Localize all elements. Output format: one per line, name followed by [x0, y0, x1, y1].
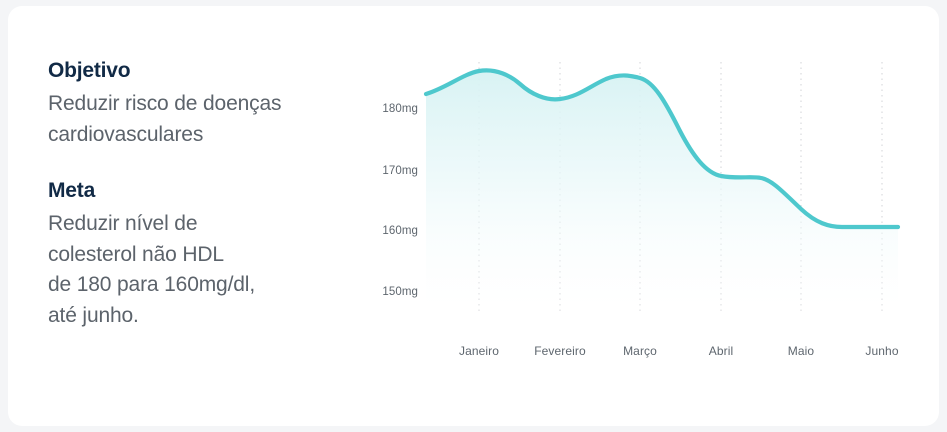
- meta-body: Reduzir nível de colesterol não HDL de 1…: [48, 209, 378, 331]
- chart-area-fill: [426, 70, 898, 311]
- y-tick-180: 180mg: [364, 103, 418, 115]
- x-tick-fevereiro: Fevereiro: [534, 344, 586, 358]
- y-tick-170: 170mg: [364, 165, 418, 177]
- goal-text-panel: Objetivo Reduzir risco de doenças cardio…: [48, 58, 378, 331]
- meta-heading: Meta: [48, 178, 378, 204]
- objetivo-body: Reduzir risco de doenças cardiovasculare…: [48, 89, 378, 150]
- x-tick-abril: Abril: [709, 344, 734, 358]
- y-tick-150: 150mg: [364, 286, 418, 298]
- x-tick-junho: Junho: [865, 344, 898, 358]
- objetivo-block: Objetivo Reduzir risco de doenças cardio…: [48, 58, 378, 150]
- meta-block: Meta Reduzir nível de colesterol não HDL…: [48, 178, 378, 331]
- y-tick-160: 160mg: [364, 225, 418, 237]
- x-tick-marco: Março: [623, 344, 657, 358]
- objetivo-heading: Objetivo: [48, 58, 378, 84]
- x-tick-maio: Maio: [788, 344, 814, 358]
- chart-svg: [368, 6, 939, 426]
- cholesterol-chart: 180mg 170mg 160mg 150mg Janeiro Fevereir…: [368, 6, 939, 426]
- x-tick-janeiro: Janeiro: [459, 344, 499, 358]
- insight-card: Objetivo Reduzir risco de doenças cardio…: [8, 6, 939, 426]
